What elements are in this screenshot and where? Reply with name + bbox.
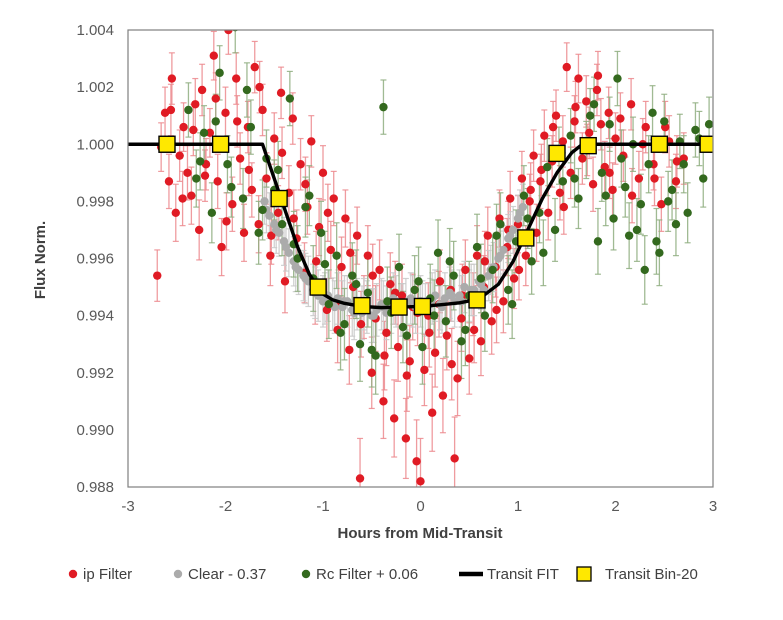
data-point <box>317 229 325 237</box>
legend-square-marker <box>577 567 591 581</box>
x-tick-label: 2 <box>611 498 619 515</box>
data-point <box>428 409 436 417</box>
data-point <box>570 174 578 182</box>
data-point <box>473 251 481 259</box>
data-point <box>153 271 161 279</box>
data-point <box>566 131 574 139</box>
data-point <box>215 69 223 77</box>
y-tick-label: 0.996 <box>76 251 114 268</box>
data-point <box>223 160 231 168</box>
data-point <box>699 174 707 182</box>
data-point <box>627 100 635 108</box>
data-point <box>635 174 643 182</box>
data-point <box>228 200 236 208</box>
data-point <box>590 100 598 108</box>
data-point <box>611 134 619 142</box>
data-point <box>346 249 354 257</box>
data-point <box>655 249 663 257</box>
data-point <box>465 354 473 362</box>
data-point <box>178 194 186 202</box>
data-point <box>544 209 552 217</box>
data-point <box>506 194 514 202</box>
data-point <box>414 277 422 285</box>
data-point <box>448 291 456 299</box>
data-point <box>672 220 680 228</box>
data-point <box>608 186 616 194</box>
data-point <box>258 106 266 114</box>
data-point <box>274 209 282 217</box>
data-point <box>198 86 206 94</box>
data-point <box>312 257 320 265</box>
data-point <box>266 251 274 259</box>
data-point <box>189 126 197 134</box>
transit-bin-marker <box>469 292 485 308</box>
data-point <box>168 74 176 82</box>
data-point <box>582 97 590 105</box>
data-point <box>179 123 187 131</box>
data-point <box>380 351 388 359</box>
x-tick-label: 1 <box>514 498 522 515</box>
data-point <box>540 131 548 139</box>
data-point <box>650 174 658 182</box>
data-point <box>621 183 629 191</box>
x-tick-label: 3 <box>709 498 717 515</box>
y-tick-label: 1.002 <box>76 79 114 96</box>
data-point <box>436 277 444 285</box>
data-point <box>382 329 390 337</box>
data-point <box>668 186 676 194</box>
data-point <box>529 151 537 159</box>
data-point <box>527 257 535 265</box>
data-point <box>240 229 248 237</box>
data-point <box>552 111 560 119</box>
data-point <box>305 191 313 199</box>
transit-bin-marker <box>549 145 565 161</box>
data-point <box>450 454 458 462</box>
data-point <box>406 357 414 365</box>
data-point <box>352 280 360 288</box>
data-point <box>289 114 297 122</box>
data-point <box>277 89 285 97</box>
y-tick-label: 0.994 <box>76 308 114 325</box>
data-point <box>442 317 450 325</box>
x-tick-label: 0 <box>416 498 424 515</box>
data-point <box>290 214 298 222</box>
data-point <box>683 209 691 217</box>
transit-bin-marker <box>414 298 430 314</box>
data-point <box>515 266 523 274</box>
data-point <box>508 300 516 308</box>
data-point <box>395 263 403 271</box>
data-point <box>390 414 398 422</box>
data-point <box>488 266 496 274</box>
data-point <box>448 360 456 368</box>
data-point <box>536 177 544 185</box>
x-tick-label: -1 <box>316 498 329 515</box>
data-point <box>461 326 469 334</box>
data-point <box>641 266 649 274</box>
data-point <box>496 251 504 259</box>
data-point <box>281 277 289 285</box>
data-point <box>282 243 290 251</box>
data-point <box>443 331 451 339</box>
data-point <box>332 251 340 259</box>
data-point <box>364 289 372 297</box>
data-point <box>292 263 300 271</box>
data-point <box>212 117 220 125</box>
data-point <box>585 129 593 137</box>
data-point <box>214 177 222 185</box>
data-point <box>425 329 433 337</box>
data-point <box>274 166 282 174</box>
x-tick-label: -2 <box>219 498 232 515</box>
data-point <box>239 194 247 202</box>
transit-bin-marker <box>310 279 326 295</box>
data-point <box>487 317 495 325</box>
data-point <box>412 457 420 465</box>
data-point <box>410 286 418 294</box>
data-point <box>262 174 270 182</box>
data-point <box>370 311 378 319</box>
data-point <box>245 166 253 174</box>
data-point <box>589 180 597 188</box>
data-point <box>165 177 173 185</box>
transit-bin-marker <box>271 191 287 207</box>
x-tick-label: -3 <box>121 498 134 515</box>
data-point <box>420 366 428 374</box>
data-point <box>449 271 457 279</box>
data-point <box>212 94 220 102</box>
data-point <box>196 157 204 165</box>
data-point <box>492 231 500 239</box>
data-point <box>278 149 286 157</box>
data-point <box>457 337 465 345</box>
data-point <box>559 177 567 185</box>
data-point <box>574 74 582 82</box>
data-point <box>617 154 625 162</box>
y-tick-label: 1.000 <box>76 136 114 153</box>
data-point <box>594 237 602 245</box>
legend-item: Clear - 0.37 <box>174 566 267 583</box>
data-point <box>243 86 251 94</box>
data-point <box>321 260 329 268</box>
data-point <box>208 209 216 217</box>
data-point <box>187 191 195 199</box>
data-point <box>484 231 492 239</box>
legend-circle-marker <box>174 570 182 578</box>
transit-light-curve-chart: -3-2-10123 0.9880.9900.9920.9940.9960.99… <box>0 0 783 620</box>
data-point <box>518 174 526 182</box>
y-tick-label: 0.992 <box>76 365 114 382</box>
data-point <box>375 266 383 274</box>
data-point <box>222 217 230 225</box>
data-point <box>593 86 601 94</box>
data-point <box>418 343 426 351</box>
data-point <box>394 343 402 351</box>
data-point <box>183 169 191 177</box>
data-point <box>473 243 481 251</box>
data-point <box>633 226 641 234</box>
data-point <box>574 194 582 202</box>
data-point <box>286 94 294 102</box>
data-point <box>357 320 365 328</box>
y-tick-label: 0.990 <box>76 422 114 439</box>
data-point <box>233 117 241 125</box>
data-point <box>496 220 504 228</box>
data-point <box>664 197 672 205</box>
data-point <box>399 323 407 331</box>
data-point <box>652 237 660 245</box>
data-point <box>461 266 469 274</box>
data-point <box>551 226 559 234</box>
transit-bin-marker <box>518 230 534 246</box>
data-point <box>221 109 229 117</box>
data-point <box>172 209 180 217</box>
y-tick-label: 1.004 <box>76 22 114 39</box>
data-point <box>260 197 268 205</box>
data-point <box>364 251 372 259</box>
transit-bin-marker <box>580 138 596 154</box>
data-point <box>217 243 225 251</box>
data-point <box>255 83 263 91</box>
y-tick-label: 0.988 <box>76 479 114 496</box>
data-point <box>470 326 478 334</box>
data-point <box>477 337 485 345</box>
data-point <box>504 286 512 294</box>
transit-bin-marker <box>159 136 175 152</box>
data-point <box>556 189 564 197</box>
data-point <box>492 306 500 314</box>
data-point <box>379 103 387 111</box>
data-point <box>499 297 507 305</box>
data-point <box>200 129 208 137</box>
data-point <box>232 74 240 82</box>
data-point <box>254 220 262 228</box>
legend-circle-marker <box>69 570 77 578</box>
data-point <box>368 346 376 354</box>
data-point <box>672 177 680 185</box>
data-point <box>403 331 411 339</box>
transit-bin-marker <box>213 136 229 152</box>
data-point <box>637 200 645 208</box>
data-point <box>598 169 606 177</box>
data-point <box>379 397 387 405</box>
data-point <box>210 52 218 60</box>
data-point <box>278 220 286 228</box>
legend-circle-marker <box>302 570 310 578</box>
data-point <box>301 203 309 211</box>
data-point <box>539 249 547 257</box>
data-point <box>526 186 534 194</box>
data-point <box>356 474 364 482</box>
data-point <box>616 114 624 122</box>
transit-bin-marker <box>354 298 370 314</box>
data-point <box>431 349 439 357</box>
data-point <box>644 160 652 168</box>
transit-bin-marker <box>651 136 667 152</box>
data-point <box>251 63 259 71</box>
data-point <box>481 257 489 265</box>
data-point <box>368 369 376 377</box>
data-point <box>594 72 602 80</box>
data-point <box>648 109 656 117</box>
data-point <box>578 154 586 162</box>
data-point <box>386 280 394 288</box>
data-point <box>642 123 650 131</box>
data-point <box>416 477 424 485</box>
data-point <box>236 154 244 162</box>
data-point <box>605 169 613 177</box>
data-point <box>586 111 594 119</box>
legend-label: Rc Filter + 0.06 <box>316 566 418 583</box>
data-point <box>434 249 442 257</box>
x-axis-title: Hours from Mid-Transit <box>337 525 502 542</box>
data-point <box>270 134 278 142</box>
y-axis-tick-labels: 0.9880.9900.9920.9940.9960.9981.0001.002… <box>76 22 114 496</box>
data-point <box>446 257 454 265</box>
data-point <box>356 340 364 348</box>
data-point <box>330 194 338 202</box>
data-point <box>559 137 567 145</box>
data-point <box>337 263 345 271</box>
data-point <box>453 374 461 382</box>
data-point <box>439 391 447 399</box>
data-point <box>602 191 610 199</box>
data-point <box>570 117 578 125</box>
data-point <box>201 171 209 179</box>
data-point <box>167 106 175 114</box>
data-point <box>613 74 621 82</box>
data-point <box>247 123 255 131</box>
legend-label: ip Filter <box>83 566 132 583</box>
data-point <box>324 209 332 217</box>
data-point <box>543 163 551 171</box>
data-point <box>340 320 348 328</box>
data-point <box>597 120 605 128</box>
data-point <box>605 120 613 128</box>
data-point <box>301 180 309 188</box>
data-point <box>383 297 391 305</box>
data-point <box>258 206 266 214</box>
legend-label: Clear - 0.37 <box>188 566 266 583</box>
legend-item: Rc Filter + 0.06 <box>302 566 418 583</box>
data-point <box>254 229 262 237</box>
data-point <box>481 311 489 319</box>
data-point <box>516 209 524 217</box>
data-point <box>402 434 410 442</box>
data-point <box>571 103 579 111</box>
data-point <box>691 126 699 134</box>
data-point <box>457 314 465 322</box>
data-point <box>191 100 199 108</box>
data-point <box>403 371 411 379</box>
data-point <box>680 160 688 168</box>
data-point <box>175 151 183 159</box>
data-point <box>248 186 256 194</box>
data-point <box>563 63 571 71</box>
data-point <box>353 231 361 239</box>
data-point <box>625 231 633 239</box>
data-point <box>307 137 315 145</box>
y-axis-title: Flux Norm. <box>32 221 49 299</box>
data-point <box>227 183 235 191</box>
legend-label: Transit FIT <box>487 566 559 583</box>
y-tick-label: 0.998 <box>76 193 114 210</box>
data-point <box>477 274 485 282</box>
data-point <box>705 120 713 128</box>
data-point <box>660 117 668 125</box>
data-point <box>336 329 344 337</box>
data-point <box>319 169 327 177</box>
data-point <box>296 160 304 168</box>
data-point <box>628 191 636 199</box>
data-point <box>184 106 192 114</box>
data-point <box>192 174 200 182</box>
data-point <box>430 311 438 319</box>
data-point <box>520 191 528 199</box>
data-point <box>549 123 557 131</box>
data-point <box>348 271 356 279</box>
legend-label: Transit Bin-20 <box>605 566 698 583</box>
data-point <box>341 214 349 222</box>
transit-bin-marker <box>391 299 407 315</box>
data-point <box>609 214 617 222</box>
data-point <box>510 274 518 282</box>
data-point <box>369 271 377 279</box>
data-point <box>195 226 203 234</box>
data-point <box>560 203 568 211</box>
data-point <box>345 346 353 354</box>
data-point <box>604 109 612 117</box>
